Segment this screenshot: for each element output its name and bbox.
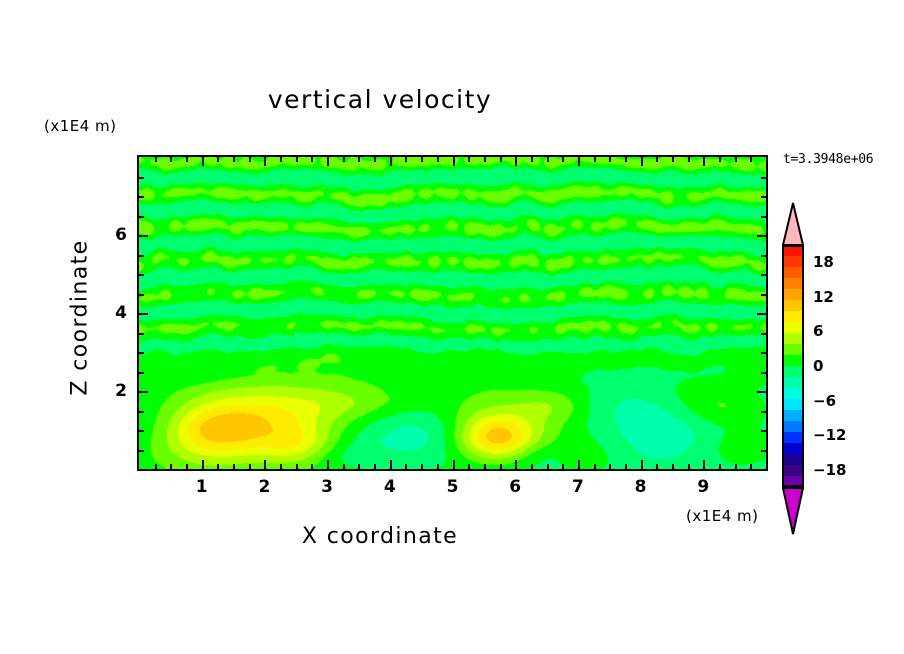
x-tick-top: [609, 157, 611, 162]
y-tick: [139, 196, 144, 198]
x-tick: [327, 460, 329, 469]
x-tick-top: [719, 157, 721, 162]
y-tick: [139, 255, 144, 257]
x-tick: [217, 464, 219, 469]
x-tick-label: 4: [370, 477, 410, 497]
x-tick: [531, 464, 533, 469]
y-tick: [139, 313, 148, 315]
x-tick: [170, 464, 172, 469]
x-tick: [672, 464, 674, 469]
x-tick-top: [703, 157, 705, 166]
x-tick: [405, 464, 407, 469]
y-tick: [139, 430, 144, 432]
x-tick: [311, 464, 313, 469]
x-tick-top: [280, 157, 282, 162]
x-tick: [358, 464, 360, 469]
x-tick-top: [233, 157, 235, 162]
x-tick-top: [390, 157, 392, 166]
x-tick-label: 6: [495, 477, 535, 497]
contour-field: [139, 157, 766, 469]
x-tick-top: [186, 157, 188, 162]
colorbar-band: [782, 322, 804, 333]
x-tick-label: 7: [558, 477, 598, 497]
y-tick: [139, 274, 144, 276]
y-tick: [139, 352, 144, 354]
x-tick-top: [515, 157, 517, 166]
x-tick-top: [327, 157, 329, 166]
x-tick: [155, 464, 157, 469]
x-tick-top: [656, 157, 658, 162]
x-tick: [719, 464, 721, 469]
plot-root: vertical velocity (x1E4 m) (x1E4 m) t=3.…: [0, 0, 904, 654]
x-tick: [547, 464, 549, 469]
x-tick-top: [405, 157, 407, 162]
x-tick-label: 2: [244, 477, 284, 497]
x-tick-top: [437, 157, 439, 162]
y-tick-right: [757, 391, 766, 393]
x-tick: [625, 464, 627, 469]
y-tick-right: [761, 255, 766, 257]
x-tick-top: [688, 157, 690, 162]
x-tick: [656, 464, 658, 469]
colorbar-band: [782, 333, 804, 344]
colorbar-band: [782, 399, 804, 410]
colorbar-tick-label: 6: [813, 322, 823, 340]
x-tick-top: [468, 157, 470, 162]
x-tick: [594, 464, 596, 469]
colorbar-tick-label: 0: [813, 357, 823, 375]
y-tick-right: [761, 411, 766, 413]
y-tick-right: [761, 372, 766, 374]
x-tick: [437, 464, 439, 469]
x-axis-unit-label: (x1E4 m): [686, 507, 759, 525]
x-tick-label: 3: [307, 477, 347, 497]
x-tick-top: [531, 157, 533, 162]
y-tick-right: [761, 294, 766, 296]
x-tick-top: [358, 157, 360, 162]
x-tick-top: [217, 157, 219, 162]
colorbar-tick-label: 12: [813, 288, 834, 306]
x-tick-top: [311, 157, 313, 162]
x-tick-top: [170, 157, 172, 162]
x-tick: [264, 460, 266, 469]
y-tick: [139, 411, 144, 413]
y-tick: [139, 372, 144, 374]
colorbar-tick-label: 18: [813, 253, 834, 271]
colorbar-band: [782, 410, 804, 421]
x-tick: [703, 460, 705, 469]
colorbar-under-arrow-icon: [782, 487, 804, 535]
x-tick: [578, 460, 580, 469]
x-tick: [249, 464, 251, 469]
x-tick-top: [296, 157, 298, 162]
x-tick: [641, 460, 643, 469]
colorbar-band: [782, 289, 804, 300]
y-tick: [139, 294, 144, 296]
x-tick: [374, 464, 376, 469]
x-tick-top: [578, 157, 580, 166]
y-tick-label: 2: [87, 381, 127, 401]
y-tick-right: [757, 313, 766, 315]
x-tick-top: [249, 157, 251, 162]
x-tick: [735, 464, 737, 469]
colorbar-band: [782, 388, 804, 399]
x-tick: [280, 464, 282, 469]
x-tick: [390, 460, 392, 469]
y-tick: [139, 333, 144, 335]
x-tick: [515, 460, 517, 469]
colorbar-tick-label: −12: [813, 426, 846, 444]
x-tick-top: [625, 157, 627, 162]
y-tick-right: [761, 216, 766, 218]
x-tick: [468, 464, 470, 469]
x-tick: [186, 464, 188, 469]
x-tick: [421, 464, 423, 469]
x-tick-top: [547, 157, 549, 162]
x-tick-top: [155, 157, 157, 162]
x-tick-top: [735, 157, 737, 162]
x-tick-top: [641, 157, 643, 166]
x-tick: [750, 464, 752, 469]
x-tick-top: [374, 157, 376, 162]
x-axis-title: X coordinate: [0, 524, 760, 549]
x-tick-top: [421, 157, 423, 162]
contour-plot-area: [137, 155, 768, 471]
x-tick-label: 1: [182, 477, 222, 497]
colorbar-band: [782, 278, 804, 289]
colorbar-over-arrow-icon: [782, 202, 804, 246]
x-tick: [609, 464, 611, 469]
x-tick: [688, 464, 690, 469]
colorbar-band: [782, 355, 804, 366]
y-tick-right: [757, 235, 766, 237]
x-tick-top: [343, 157, 345, 162]
x-tick-label: 9: [683, 477, 723, 497]
x-tick-top: [484, 157, 486, 162]
colorbar-band: [782, 256, 804, 267]
y-tick: [139, 216, 144, 218]
colorbar: 181260−6−12−18: [775, 200, 895, 520]
x-tick-top: [672, 157, 674, 162]
y-tick: [139, 391, 148, 393]
x-tick-top: [500, 157, 502, 162]
y-tick-label: 6: [87, 225, 127, 245]
y-tick-right: [761, 430, 766, 432]
x-tick: [500, 464, 502, 469]
y-tick-right: [761, 450, 766, 452]
x-tick: [484, 464, 486, 469]
colorbar-band: [782, 454, 804, 465]
y-tick-right: [761, 333, 766, 335]
x-tick-label: 8: [621, 477, 661, 497]
colorbar-band: [782, 377, 804, 388]
colorbar-band: [782, 465, 804, 476]
y-tick-right: [761, 352, 766, 354]
x-tick-top: [750, 157, 752, 162]
x-tick-top: [264, 157, 266, 166]
colorbar-tick-label: −18: [813, 461, 846, 479]
x-tick: [233, 464, 235, 469]
y-tick-right: [761, 274, 766, 276]
colorbar-band: [782, 311, 804, 322]
time-annotation: t=3.3948e+06: [783, 152, 873, 167]
x-tick: [343, 464, 345, 469]
x-tick: [296, 464, 298, 469]
x-tick: [202, 460, 204, 469]
x-tick-top: [594, 157, 596, 162]
colorbar-tick-label: −6: [813, 392, 836, 410]
y-tick: [139, 177, 144, 179]
colorbar-band: [782, 344, 804, 355]
colorbar-bands: [782, 245, 804, 487]
x-tick-top: [562, 157, 564, 162]
colorbar-band: [782, 300, 804, 311]
y-tick: [139, 450, 144, 452]
page-title: vertical velocity: [0, 85, 760, 114]
y-tick-label: 4: [87, 303, 127, 323]
y-tick-right: [761, 196, 766, 198]
x-tick-top: [202, 157, 204, 166]
y-tick: [139, 235, 148, 237]
x-tick: [453, 460, 455, 469]
y-tick-right: [761, 177, 766, 179]
colorbar-band: [782, 432, 804, 443]
x-tick: [562, 464, 564, 469]
y-axis-unit-label: (x1E4 m): [44, 117, 117, 135]
colorbar-band: [782, 476, 804, 487]
colorbar-band: [782, 366, 804, 377]
colorbar-band: [782, 421, 804, 432]
x-tick-top: [453, 157, 455, 166]
x-tick-label: 5: [433, 477, 473, 497]
colorbar-band: [782, 245, 804, 256]
colorbar-band: [782, 443, 804, 454]
colorbar-band: [782, 267, 804, 278]
